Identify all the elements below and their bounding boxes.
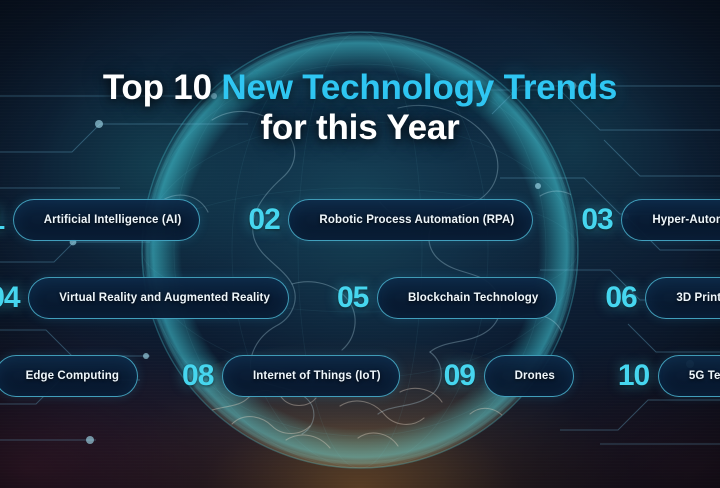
title-line-1: Top 10 New Technology Trends <box>0 68 720 108</box>
title-line-2: for this Year <box>0 108 720 148</box>
trend-item-08[interactable]: 08 Internet of Things (IoT) <box>156 354 400 398</box>
trend-number-06: 06 <box>605 283 659 313</box>
trend-number-04: 04 <box>0 283 42 313</box>
trend-number-10: 10 <box>618 361 672 391</box>
trend-row-3: 07 Edge Computing 08 Internet of Things … <box>0 354 720 398</box>
trend-label-04: Virtual Reality and Augmented Reality <box>59 292 270 304</box>
trend-pill-08[interactable]: Internet of Things (IoT) <box>222 355 400 397</box>
trend-pill-04[interactable]: Virtual Reality and Augmented Reality <box>28 277 289 319</box>
trend-item-09[interactable]: 09 Drones <box>418 354 574 398</box>
trend-pill-05[interactable]: Blockchain Technology <box>377 277 557 319</box>
trend-pill-07[interactable]: Edge Computing <box>0 355 138 397</box>
trend-number-07: 07 <box>0 361 9 391</box>
trend-label-10: 5G Technology <box>689 370 720 382</box>
trend-item-06[interactable]: 06 3D Printing <box>579 276 720 320</box>
trend-number-01: 01 <box>0 205 27 235</box>
trend-number-09: 09 <box>444 361 498 391</box>
poster-canvas: Top 10 New Technology Trends for this Ye… <box>0 0 720 488</box>
trend-item-01[interactable]: 01 Artificial Intelligence (AI) <box>0 198 200 242</box>
trend-item-04[interactable]: 04 Virtual Reality and Augmented Reality <box>0 276 289 320</box>
trend-item-10[interactable]: 10 5G Technology <box>592 354 720 398</box>
trend-label-02: Robotic Process Automation (RPA) <box>319 214 514 226</box>
trend-item-05[interactable]: 05 Blockchain Technology <box>311 276 557 320</box>
trend-number-02: 02 <box>248 205 302 235</box>
trend-label-05: Blockchain Technology <box>408 292 538 304</box>
title-accent: New Technology Trends <box>221 68 617 107</box>
trend-number-08: 08 <box>182 361 236 391</box>
trend-label-01: Artificial Intelligence (AI) <box>44 214 182 226</box>
trend-item-07[interactable]: 07 Edge Computing <box>0 354 138 398</box>
poster-title: Top 10 New Technology Trends for this Ye… <box>0 68 720 148</box>
trend-number-03: 03 <box>581 205 635 235</box>
trend-label-06: 3D Printing <box>676 292 720 304</box>
trend-label-09: Drones <box>515 370 555 382</box>
trend-row-1: 01 Artificial Intelligence (AI) 02 Robot… <box>0 198 720 242</box>
trend-label-08: Internet of Things (IoT) <box>253 370 381 382</box>
trend-label-07: Edge Computing <box>26 370 119 382</box>
title-prefix: Top 10 <box>103 68 222 107</box>
trend-pill-01[interactable]: Artificial Intelligence (AI) <box>13 199 201 241</box>
trend-item-02[interactable]: 02 Robotic Process Automation (RPA) <box>222 198 533 242</box>
trend-item-03[interactable]: 03 Hyper-Automation <box>555 198 720 242</box>
trend-label-03: Hyper-Automation <box>652 214 720 226</box>
trend-list: 01 Artificial Intelligence (AI) 02 Robot… <box>0 198 720 398</box>
trend-number-05: 05 <box>337 283 391 313</box>
trend-pill-02[interactable]: Robotic Process Automation (RPA) <box>288 199 533 241</box>
trend-pill-03[interactable]: Hyper-Automation <box>621 199 720 241</box>
trend-row-2: 04 Virtual Reality and Augmented Reality… <box>0 276 720 320</box>
